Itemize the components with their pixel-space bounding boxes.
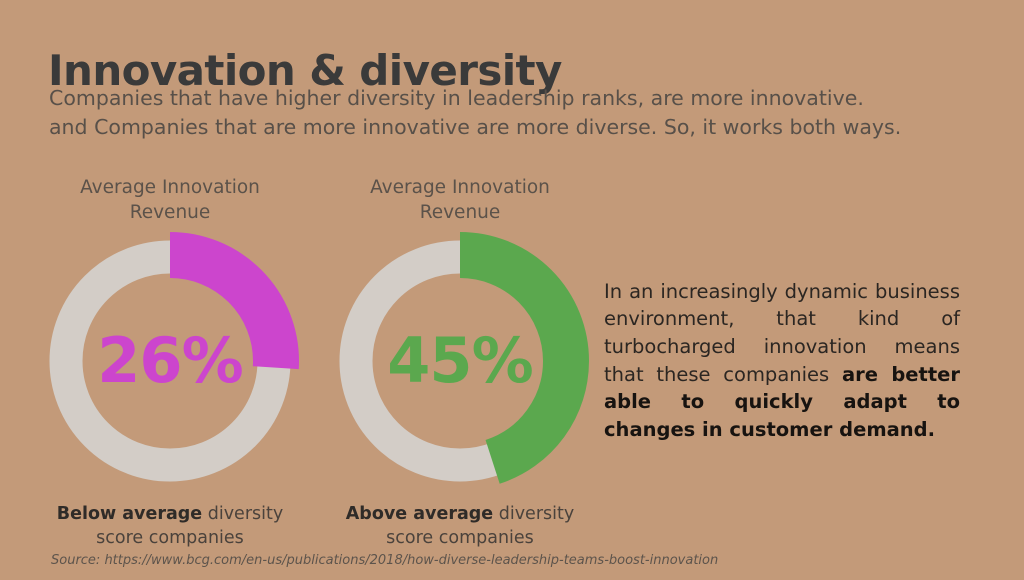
source-citation: Source: https://www.bcg.com/en-us/public… [51, 553, 718, 568]
commentary-paragraph: In an increasingly dynamic business envi… [604, 278, 960, 444]
donut-bottom-label-above-average: Above average diversity score companies [330, 502, 590, 550]
donut-bottom-label-below-average: Below average diversity score companies [40, 502, 300, 550]
donut-graphic-below-average: 26% [45, 236, 295, 486]
page-subtitle: Companies that have higher diversity in … [49, 84, 901, 142]
subtitle-line-2: and Companies that are more innovative a… [49, 113, 901, 142]
donut-bottom-label-emphasis-below-average: Below average [57, 504, 202, 524]
donut-top-label-above-average: Average Innovation Revenue [345, 176, 575, 226]
donut-top-label-below-average: Average Innovation Revenue [55, 176, 285, 226]
donut-bottom-label-emphasis-above-average: Above average [346, 504, 493, 524]
donut-chart-below-average: Average Innovation Revenue 26% Below ave… [20, 176, 320, 550]
subtitle-line-1: Companies that have higher diversity in … [49, 84, 901, 113]
slide-canvas: Innovation & diversity Companies that ha… [0, 0, 1024, 580]
donut-chart-above-average: Average Innovation Revenue 45% Above ave… [310, 176, 610, 550]
donut-graphic-above-average: 45% [335, 236, 585, 486]
